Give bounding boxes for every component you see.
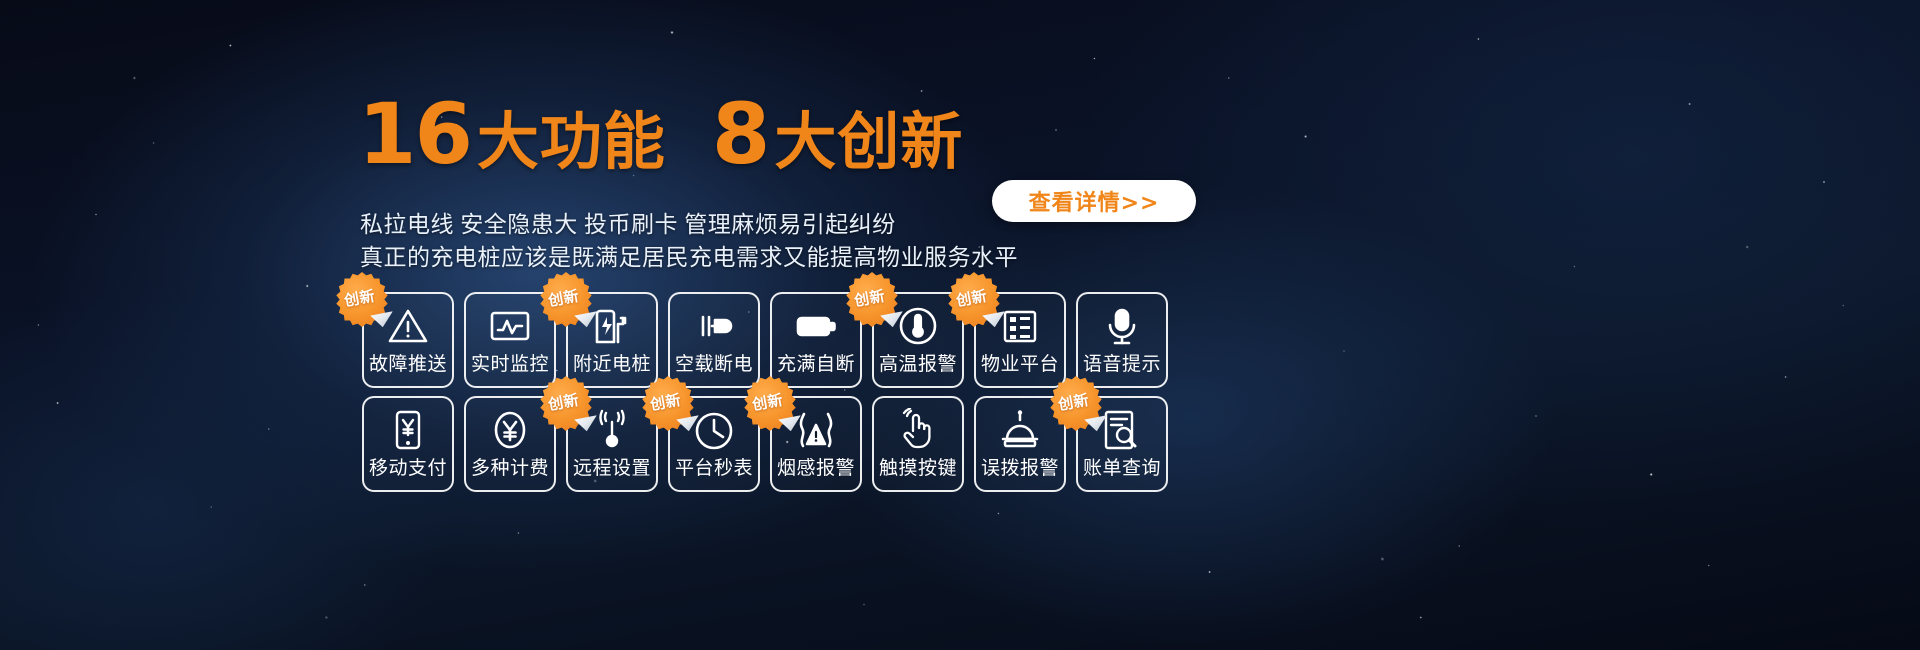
badge-starburst-shape (334, 272, 390, 328)
clock-icon (691, 407, 737, 453)
feature-tile-platform-timer[interactable]: 创新 平台秒表 (668, 396, 760, 492)
feature-tile-idle-cutoff[interactable]: 空载断电 (668, 292, 760, 388)
yuan-coin-icon (487, 407, 533, 453)
feature-tile-label: 实时监控 (471, 355, 549, 376)
wireless-signal-icon (589, 407, 635, 453)
headline: 16 大功能 8 大创新 (358, 92, 963, 176)
feature-tile-touch-keys[interactable]: 触摸按键 (872, 396, 964, 492)
feature-tile-fault-push[interactable]: 创新 故障推送 (362, 292, 454, 388)
thermometer-icon (895, 303, 941, 349)
feature-tile-label: 多种计费 (471, 459, 549, 480)
feature-tile-voice-prompt[interactable]: 语音提示 (1076, 292, 1168, 388)
feature-tile-label: 平台秒表 (675, 459, 753, 480)
feature-grid-row-1: 创新 故障推送 (362, 292, 1168, 388)
touch-hand-icon (895, 407, 941, 453)
view-details-button[interactable]: 查看详情>> (992, 180, 1196, 222)
feature-grid-row-2: 移动支付 多种计费 创新 (362, 396, 1168, 492)
smoke-alarm-icon (793, 407, 839, 453)
microphone-icon (1099, 303, 1145, 349)
charging-station-icon (589, 303, 635, 349)
badge-label: 创新 (327, 265, 392, 330)
feature-tile-label: 烟感报警 (777, 459, 855, 480)
feature-tile-label: 附近电桩 (573, 355, 651, 376)
feature-tile-nearby-stations[interactable]: 创新 附近电桩 (566, 292, 658, 388)
mobile-payment-icon (385, 407, 431, 453)
bill-search-icon (1099, 407, 1145, 453)
feature-tile-bill-query[interactable]: 创新 账单查询 (1076, 396, 1168, 492)
feature-tile-auto-cutoff-full[interactable]: 充满自断 (770, 292, 862, 388)
feature-tile-high-temp-alarm[interactable]: 创新 高温报警 (872, 292, 964, 388)
headline-text-functions: 大功能 (477, 111, 666, 173)
feature-tile-label: 账单查询 (1083, 459, 1161, 480)
feature-tile-label: 空载断电 (675, 355, 753, 376)
warning-triangle-icon (385, 303, 431, 349)
feature-tile-remote-settings[interactable]: 创新 远程设置 (566, 396, 658, 492)
monitor-waveform-icon (487, 303, 533, 349)
feature-tile-realtime-monitor[interactable]: 实时监控 (464, 292, 556, 388)
feature-tile-multi-billing[interactable]: 多种计费 (464, 396, 556, 492)
feature-tile-property-platform[interactable]: 创新 物业平台 (974, 292, 1066, 388)
feature-tile-label: 充满自断 (777, 355, 855, 376)
headline-number-innovations: 8 (712, 92, 768, 176)
feature-tile-smoke-alarm[interactable]: 创新 烟感报警 (770, 396, 862, 492)
innovation-badge: 创新 (334, 272, 390, 328)
battery-full-icon (793, 303, 839, 349)
feature-tile-label: 远程设置 (573, 459, 651, 480)
promo-banner: 16 大功能 8 大创新 查看详情>> 私拉电线 安全隐患大 投币刷卡 管理麻烦… (0, 0, 1920, 650)
feature-tile-mobile-payment[interactable]: 移动支付 (362, 396, 454, 492)
feature-tile-label: 高温报警 (879, 355, 957, 376)
subtitle: 私拉电线 安全隐患大 投币刷卡 管理麻烦易引起纠纷 真正的充电桩应该是既满足居民… (360, 208, 1018, 274)
feature-grid: 创新 故障推送 (362, 292, 1168, 500)
plug-cutoff-icon (691, 303, 737, 349)
feature-tile-label: 物业平台 (981, 355, 1059, 376)
feature-tile-misdial-alarm[interactable]: 误拨报警 (974, 396, 1066, 492)
subtitle-line-2: 真正的充电桩应该是既满足居民充电需求又能提高物业服务水平 (360, 241, 1018, 274)
feature-tile-label: 移动支付 (369, 459, 447, 480)
headline-text-innovations: 大创新 (774, 111, 963, 173)
subtitle-line-1: 私拉电线 安全隐患大 投币刷卡 管理麻烦易引起纠纷 (360, 208, 1018, 241)
headline-number-functions: 16 (358, 92, 471, 176)
feature-tile-label: 语音提示 (1083, 355, 1161, 376)
building-icon (997, 303, 1043, 349)
feature-tile-label: 故障推送 (369, 355, 447, 376)
feature-tile-label: 误拨报警 (981, 459, 1059, 480)
alarm-bell-icon (997, 407, 1043, 453)
feature-tile-label: 触摸按键 (879, 459, 957, 480)
